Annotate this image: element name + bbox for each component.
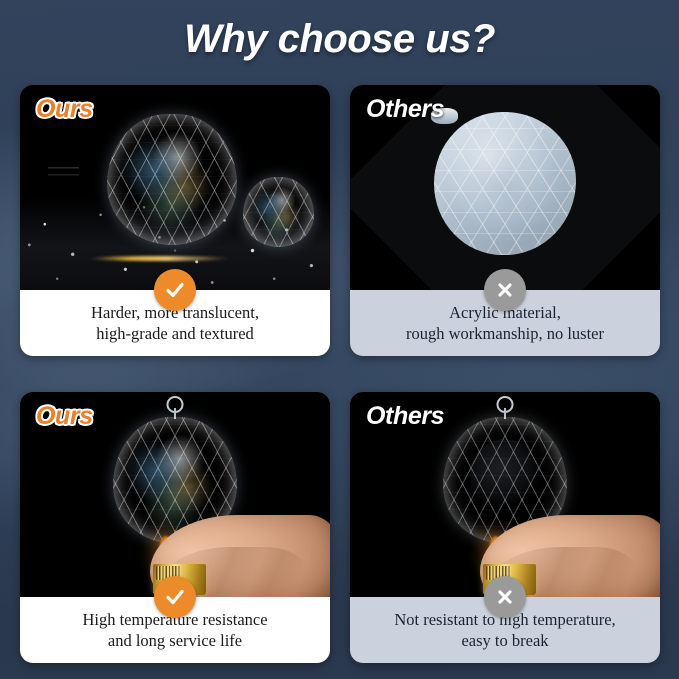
product-photo-others-acrylic: Others — [350, 85, 660, 290]
product-photo-ours-crystals: Ours — [20, 85, 330, 290]
caption-line-2: high-grade and textured — [96, 324, 254, 343]
page-title: Why choose us? — [184, 17, 495, 62]
cross-icon — [484, 269, 526, 311]
card-label-ours: Ours — [36, 402, 93, 431]
crystal-rainbow-refraction — [117, 124, 226, 234]
caption-line-2: easy to break — [461, 631, 548, 650]
caption-line-2: rough workmanship, no luster — [406, 324, 604, 343]
crystal-ball-small — [243, 177, 314, 247]
comparison-infographic: Why choose us? — [0, 0, 679, 679]
product-photo-others-flame-test: Others — [350, 392, 660, 597]
crystal-ball-large — [107, 114, 237, 245]
comparison-card-ours-quality: Ours Harder, more translucent,high-grade… — [20, 85, 330, 356]
page-title-area: Why choose us? — [0, 0, 679, 78]
product-photo-ours-flame-test: Ours — [20, 392, 330, 597]
check-icon — [154, 576, 196, 618]
caption-line-2: and long service life — [108, 631, 242, 650]
card-label-ours: Ours — [36, 95, 93, 124]
comparison-card-others-heat: Others Not resistant to high temperature… — [350, 392, 660, 663]
background-text-blur — [48, 167, 79, 200]
check-icon — [154, 269, 196, 311]
cross-icon — [484, 576, 526, 618]
comparison-card-others-quality: Others Acrylic material,rough workmanshi… — [350, 85, 660, 356]
card-label-others: Others — [366, 95, 444, 124]
comparison-card-ours-heat: Ours High temperature resistanceand long… — [20, 392, 330, 663]
crystal-rainbow-refraction — [249, 183, 309, 242]
card-label-others: Others — [366, 402, 444, 431]
comparison-grid: Ours Harder, more translucent,high-grade… — [20, 85, 660, 663]
